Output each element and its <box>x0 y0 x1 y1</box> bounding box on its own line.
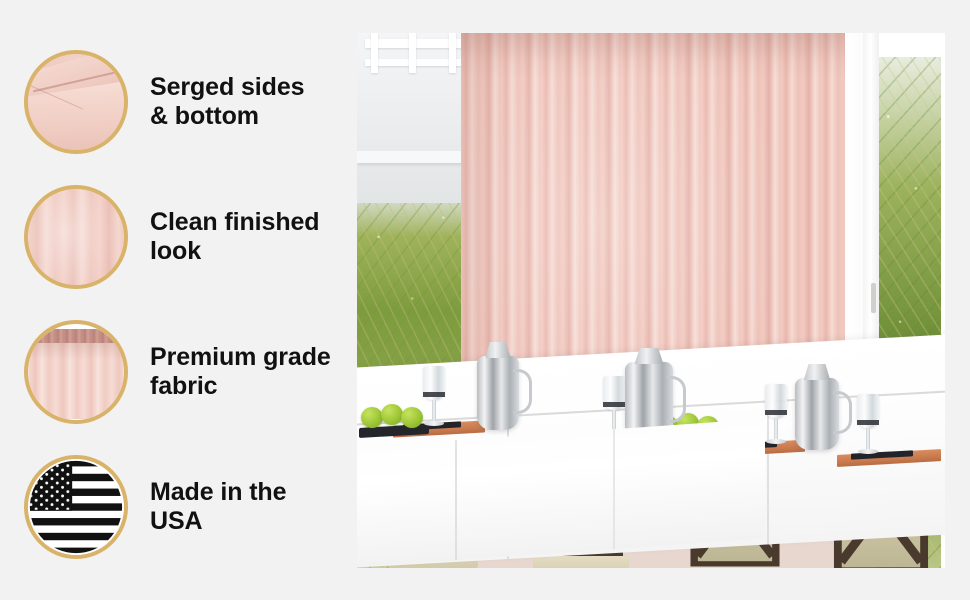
pink-curtain-backdrop-event-photo <box>357 33 945 568</box>
feature-item-premium-grade-fabric: Premium grade fabric <box>0 304 350 439</box>
silver-pitcher <box>477 356 519 430</box>
crystal-goblet <box>857 394 879 456</box>
feature-label-made-in-the-usa: Made in the USA <box>150 478 286 536</box>
feature-list: Serged sides & bottom Clean finished loo… <box>0 0 350 600</box>
green-apple <box>381 404 403 425</box>
feature-label-serged-sides: Serged sides & bottom <box>150 73 304 131</box>
feature-item-clean-finished-look: Clean finished look <box>0 169 350 304</box>
silver-pitcher <box>795 378 839 450</box>
photo-scene <box>357 33 945 568</box>
clean-finish-fabric-icon <box>24 185 128 289</box>
crystal-goblet <box>423 366 445 428</box>
clean-finish-illustration <box>28 189 124 285</box>
product-feature-infographic: Serged sides & bottom Clean finished loo… <box>0 0 970 600</box>
door-handle-icon <box>871 283 876 313</box>
green-apple <box>401 407 423 428</box>
feature-label-clean-finished-look: Clean finished look <box>150 208 319 266</box>
feature-label-premium-grade-fabric: Premium grade fabric <box>150 343 331 401</box>
crystal-goblet <box>765 384 787 446</box>
serged-fabric-illustration <box>28 54 124 150</box>
premium-fabric-illustration <box>28 324 124 420</box>
serged-fabric-icon <box>24 50 128 154</box>
feature-item-made-in-the-usa: Made in the USA <box>0 439 350 574</box>
green-apple <box>361 407 383 428</box>
usa-flag-icon <box>24 455 128 559</box>
usa-flag-svg <box>28 459 124 555</box>
usa-flag-illustration <box>28 459 124 555</box>
premium-fabric-icon <box>24 320 128 424</box>
feature-item-serged-sides: Serged sides & bottom <box>0 34 350 169</box>
